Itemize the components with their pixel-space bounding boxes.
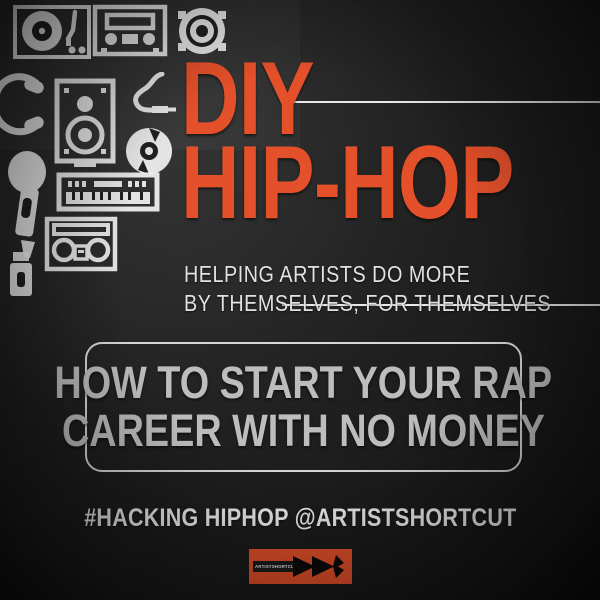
studio-monitor-icon <box>54 78 116 170</box>
headline-line-2: CAREER WITH NO MONEY <box>62 407 545 455</box>
poster-canvas: DIY HIP-HOP HELPING ARTISTS DO MORE BY T… <box>0 0 600 600</box>
turntable-icon <box>12 4 92 60</box>
logo-wordmark: ARTISTSHORTCUT.COM <box>253 561 294 572</box>
audio-cable-icon <box>116 72 178 130</box>
hashtag-handle-line: #HACKING HIPHOP @ARTISTSHORTCUT <box>0 504 600 533</box>
title-line-hiphop: HIP-HOP <box>181 141 514 226</box>
keyboard-synth-icon <box>56 172 160 212</box>
headline-box: HOW TO START YOUR RAP CAREER WITH NO MON… <box>85 342 522 472</box>
logo-arrow-group <box>294 553 348 580</box>
headline-line-1: HOW TO START YOUR RAP <box>55 359 553 407</box>
hashtag-text: #HACKING HIPHOP @ARTISTSHORTCUT <box>84 504 516 533</box>
subtitle-line-2: BY THEMSELVES, FOR THEMSELVES <box>184 289 551 318</box>
headphones-icon <box>0 72 50 148</box>
boombox-icon <box>44 216 118 272</box>
artist-shortcut-logo-badge[interactable]: ARTISTSHORTCUT.COM <box>249 549 352 584</box>
subtitle-block: HELPING ARTISTS DO MORE BY THEMSELVES, F… <box>184 260 551 319</box>
logo-inner: ARTISTSHORTCUT.COM <box>253 553 348 580</box>
vinyl-disc-icon <box>124 126 174 176</box>
usb-drive-icon <box>8 250 34 298</box>
cassette-icon <box>92 4 168 57</box>
subtitle-line-1: HELPING ARTISTS DO MORE <box>184 260 551 289</box>
fast-forward-arrows-icon <box>292 553 348 580</box>
